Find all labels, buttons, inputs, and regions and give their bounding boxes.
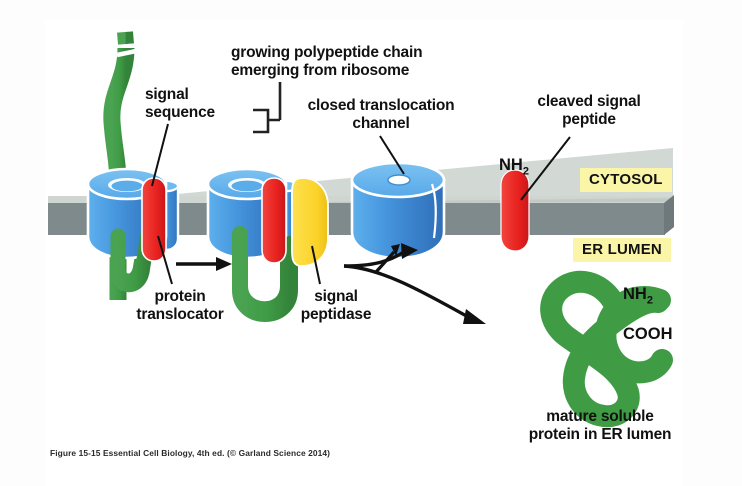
nh2-subscript: 2	[647, 294, 653, 306]
label-growing-polypeptide-chain: growing polypeptide chain emerging from …	[231, 44, 422, 81]
signal-peptidase	[292, 178, 328, 266]
bracket-icon	[253, 82, 280, 132]
closed-translocation-channel	[352, 163, 444, 258]
label-cooh: COOH	[623, 325, 673, 344]
stage-arrow-1-2	[176, 257, 232, 271]
label-closed-translocation-channel: closed translocation channel	[306, 97, 456, 134]
label-cleaved-signal-peptide: cleaved signal peptide	[519, 93, 659, 130]
signal-sequence-stage2	[262, 178, 286, 263]
pore-hole-icon	[388, 175, 410, 185]
arrow-curve-down-icon	[463, 309, 486, 324]
label-cytosol: CYTOSOL	[580, 168, 672, 192]
cleaved-signal-peptide	[501, 170, 529, 251]
label-nh2-protein: NH2	[623, 285, 653, 306]
nh2-text: NH	[623, 285, 647, 303]
figure-container: signal sequence growing polypeptide chai…	[0, 0, 742, 486]
label-er-lumen: ER LUMEN	[573, 238, 671, 262]
label-signal-sequence: signal sequence	[145, 86, 215, 123]
figure-caption: Figure 15-15 Essential Cell Biology, 4th…	[50, 448, 330, 458]
label-signal-peptidase: signal peptidase	[287, 288, 385, 325]
nh2-subscript: 2	[523, 165, 529, 177]
label-nh2-membrane: NH2	[499, 156, 529, 177]
nh2-text: NH	[499, 156, 523, 174]
label-protein-translocator: protein translocator	[126, 288, 234, 325]
label-mature-soluble-protein: mature soluble protein in ER lumen	[510, 408, 690, 445]
